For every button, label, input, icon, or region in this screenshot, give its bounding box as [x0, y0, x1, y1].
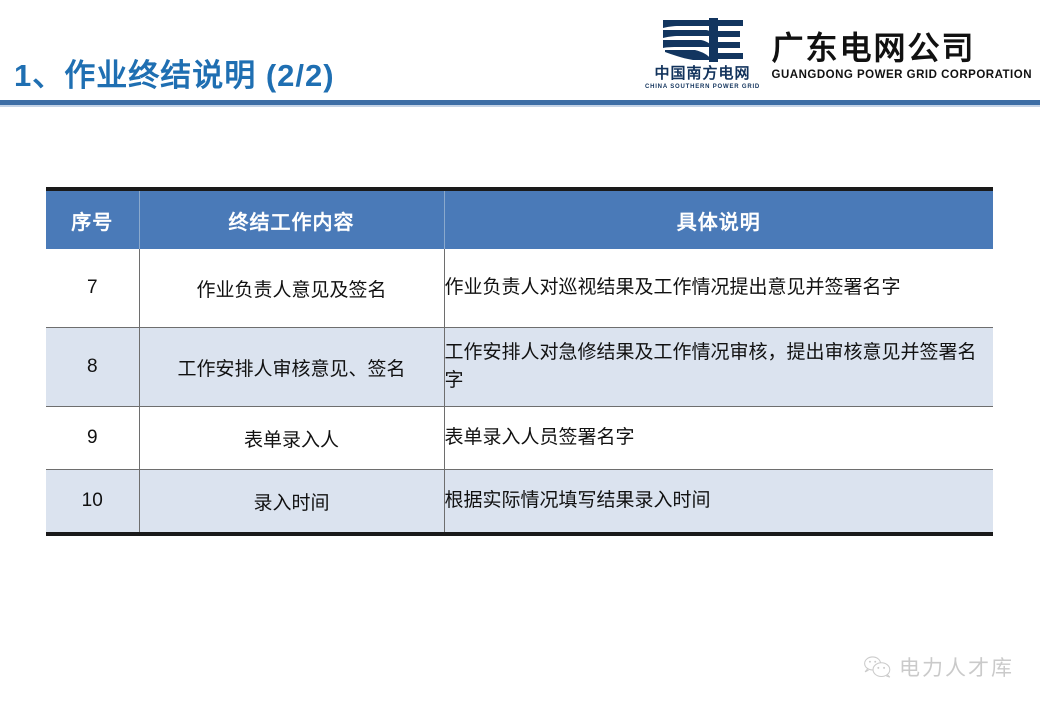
watermark-label: 电力人才库	[899, 652, 1014, 682]
cell-description: 作业负责人对巡视结果及工作情况提出意见并签署名字	[444, 249, 993, 328]
column-header-description: 具体说明	[444, 189, 993, 249]
table-row: 7 作业负责人意见及签名 作业负责人对巡视结果及工作情况提出意见并签署名字	[46, 249, 993, 328]
cell-work-content: 表单录入人	[139, 407, 444, 470]
cell-description: 根据实际情况填写结果录入时间	[444, 470, 993, 535]
column-header-sequence: 序号	[46, 189, 139, 249]
brand-logo: 中国南方电网 CHINA SOUTHERN POWER GRID 广东电网公司 …	[644, 16, 1032, 90]
watermark: 电力人才库	[862, 652, 1014, 682]
cell-sequence: 8	[46, 328, 139, 407]
table-body: 7 作业负责人意见及签名 作业负责人对巡视结果及工作情况提出意见并签署名字 8 …	[46, 249, 993, 534]
table-row: 9 表单录入人 表单录入人员签署名字	[46, 407, 993, 470]
column-header-work-content: 终结工作内容	[139, 189, 444, 249]
slide-header: 1、作业终结说明 (2/2) 中国南方电	[0, 0, 1040, 104]
cell-sequence: 9	[46, 407, 139, 470]
table-row: 10 录入时间 根据实际情况填写结果录入时间	[46, 470, 993, 535]
cell-sequence: 10	[46, 470, 139, 535]
wechat-icon	[862, 654, 892, 680]
csg-grid-mark-icon	[653, 16, 753, 64]
cell-description: 工作安排人对急修结果及工作情况审核，提出审核意见并签署名字	[444, 328, 993, 407]
table-row: 8 工作安排人审核意见、签名 工作安排人对急修结果及工作情况审核，提出审核意见并…	[46, 328, 993, 407]
header-divider	[0, 100, 1040, 107]
company-name-chinese: 广东电网公司	[772, 32, 1032, 64]
cell-work-content: 工作安排人审核意见、签名	[139, 328, 444, 407]
table-header: 序号 终结工作内容 具体说明	[46, 189, 993, 249]
csg-logo-english-name: CHINA SOUTHERN POWER GRID	[645, 84, 760, 90]
cell-work-content: 录入时间	[139, 470, 444, 535]
page-title: 1、作业终结说明 (2/2)	[14, 50, 335, 95]
cell-work-content: 作业负责人意见及签名	[139, 249, 444, 328]
table-header-row: 序号 终结工作内容 具体说明	[46, 189, 993, 249]
csg-logo-chinese-name: 中国南方电网	[655, 66, 751, 83]
cell-sequence: 7	[46, 249, 139, 328]
termination-instructions-table: 序号 终结工作内容 具体说明 7 作业负责人意见及签名 作业负责人对巡视结果及工…	[46, 187, 993, 536]
divider-secondary-bar	[0, 105, 1040, 107]
csg-logo-group: 中国南方电网 CHINA SOUTHERN POWER GRID	[644, 16, 762, 90]
content-table-wrapper: 序号 终结工作内容 具体说明 7 作业负责人意见及签名 作业负责人对巡视结果及工…	[46, 187, 993, 536]
cell-description: 表单录入人员签署名字	[444, 407, 993, 470]
company-name-group: 广东电网公司 GUANGDONG POWER GRID CORPORATION	[772, 16, 1032, 81]
company-name-english: GUANGDONG POWER GRID CORPORATION	[772, 69, 1032, 81]
